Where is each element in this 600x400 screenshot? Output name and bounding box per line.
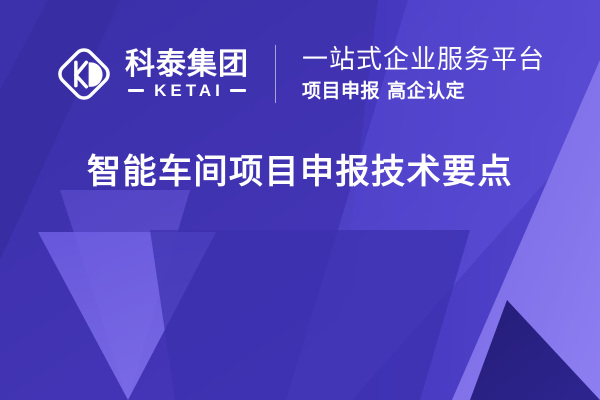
brand-name-en-row: KETAI	[125, 82, 249, 99]
tagline-sub: 项目申报 高企认定	[302, 81, 545, 102]
header-divider	[275, 45, 276, 103]
tagline-main: 一站式企业服务平台	[302, 46, 545, 75]
tagline-block: 一站式企业服务平台 项目申报 高企认定	[302, 46, 545, 101]
brand-name-cn: 科泰集团	[125, 49, 249, 81]
promo-banner: 科泰集团 KETAI 一站式企业服务平台 项目申报 高企认定 智能车间项目申报技…	[0, 0, 600, 400]
brand-rule-right	[230, 89, 246, 92]
banner-header: 科泰集团 KETAI 一站式企业服务平台 项目申报 高企认定	[0, 34, 600, 114]
brand-lockup: 科泰集团 KETAI	[55, 45, 249, 103]
brand-rule-left	[128, 89, 144, 92]
page-title: 智能车间项目申报技术要点	[0, 152, 600, 193]
ketai-diamond-logo-icon	[55, 45, 113, 103]
brand-text: 科泰集团 KETAI	[125, 49, 249, 100]
brand-name-en: KETAI	[150, 82, 224, 99]
